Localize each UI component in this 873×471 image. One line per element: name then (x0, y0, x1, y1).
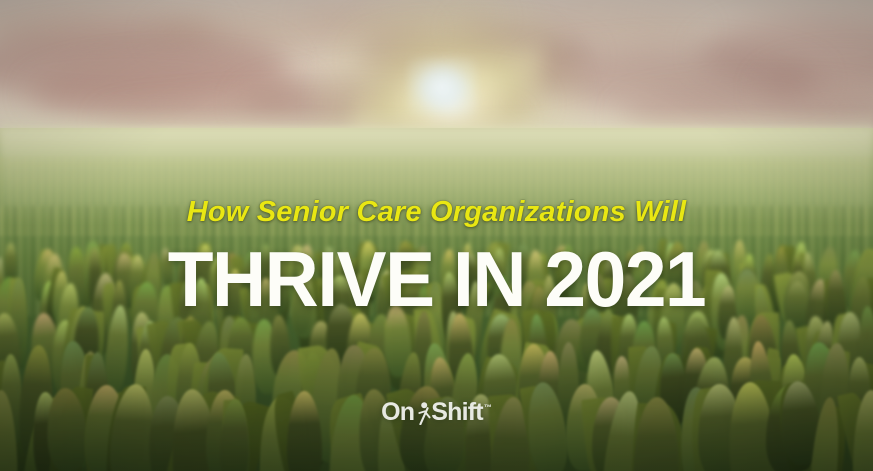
person-slash-icon (415, 400, 431, 425)
trademark-symbol: ™ (484, 403, 492, 412)
onshift-logo[interactable]: On Shift ™ (0, 400, 873, 425)
logo-lockup: On Shift ™ (381, 400, 492, 425)
banner-headline: THRIVE IN 2021 (17, 240, 855, 318)
marketing-banner: How Senior Care Organizations Will THRIV… (0, 0, 873, 471)
banner-subtitle: How Senior Care Organizations Will (0, 196, 873, 229)
logo-text-on: On (381, 400, 414, 425)
logo-text-shift: Shift (431, 400, 483, 425)
